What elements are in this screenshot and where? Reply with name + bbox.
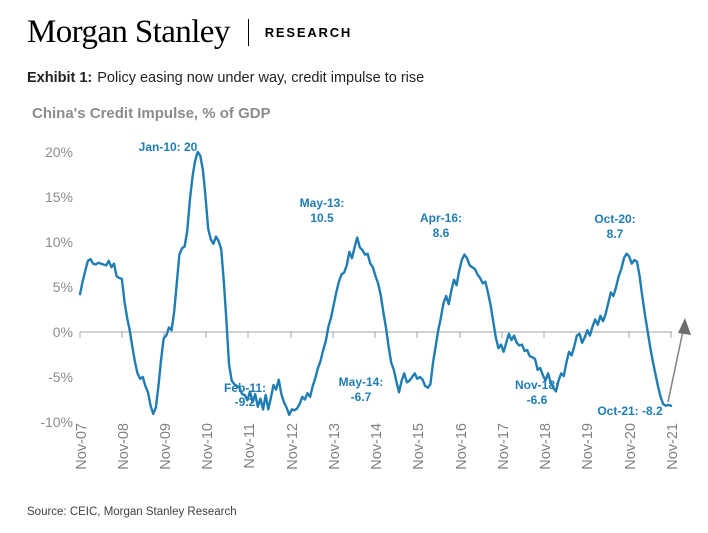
- annotation-nov18-line1: Nov-18:: [515, 378, 559, 392]
- annotation-may13-line2: 10.5: [310, 211, 334, 225]
- brand-header: Morgan Stanley RESEARCH: [27, 12, 352, 52]
- x-tick-nov09: Nov-09: [158, 423, 174, 470]
- y-tick-0: 0%: [53, 324, 73, 340]
- x-tick-nov10: Nov-10: [200, 423, 216, 470]
- source-note: Source: CEIC, Morgan Stanley Research: [27, 506, 237, 518]
- annotation-may13-line1: May-13:: [300, 196, 345, 210]
- x-tick-nov18: Nov-18: [538, 423, 554, 470]
- x-tick-nov19: Nov-19: [580, 423, 596, 470]
- annotation-feb11-line2: -9.2: [235, 395, 256, 409]
- annotation-nov18-line2: -6.6: [527, 393, 548, 407]
- y-axis-labels: 20% 15% 10% 5% 0% -5% -10%: [40, 144, 73, 430]
- y-tick-neg10: -10%: [40, 414, 73, 430]
- annotation-may14-line1: May-14:: [339, 375, 384, 389]
- y-tick-20: 20%: [45, 144, 73, 160]
- x-tick-nov14: Nov-14: [369, 423, 385, 470]
- annotation-oct21: Oct-21: -8.2: [597, 404, 663, 418]
- x-tick-nov21: Nov-21: [665, 423, 681, 470]
- exhibit-title-row: Exhibit 1:Policy easing now under way, c…: [27, 70, 424, 86]
- credit-impulse-line-chart: 20% 15% 10% 5% 0% -5% -10%: [0, 130, 708, 495]
- annotation-apr16-line2: 8.6: [433, 226, 450, 240]
- x-tick-nov16: Nov-16: [454, 423, 470, 470]
- annotation-oct20-line1: Oct-20:: [594, 212, 635, 226]
- y-tick-5: 5%: [53, 279, 73, 295]
- annotation-oct20-line2: 8.7: [607, 227, 624, 241]
- x-tick-nov08: Nov-08: [116, 423, 132, 470]
- chart-annotations: Jan-10: 20 Feb-11: -9.2 May-13: 10.5 May…: [139, 140, 663, 418]
- x-tick-nov17: Nov-17: [496, 423, 512, 470]
- exhibit-label: Exhibit 1:: [27, 70, 92, 86]
- x-axis-labels: Nov-07 Nov-08 Nov-09 Nov-10 Nov-11 Nov-1…: [74, 423, 681, 470]
- x-tick-nov20: Nov-20: [623, 423, 639, 470]
- chart-subtitle: China's Credit Impulse, % of GDP: [32, 105, 271, 122]
- exhibit-title: Policy easing now under way, credit impu…: [97, 70, 424, 86]
- annotation-apr16-line1: Apr-16:: [420, 211, 462, 225]
- y-tick-10: 10%: [45, 234, 73, 250]
- annotation-jan10: Jan-10: 20: [139, 140, 198, 154]
- brand-division-label: RESEARCH: [265, 25, 352, 40]
- zero-axis-line: [80, 332, 672, 338]
- brand-divider: [248, 19, 249, 46]
- x-tick-nov15: Nov-15: [411, 423, 427, 470]
- rising-trend-arrow-icon: [668, 318, 691, 402]
- annotation-feb11-line1: Feb-11:: [224, 381, 266, 395]
- chart-container: 20% 15% 10% 5% 0% -5% -10%: [0, 130, 708, 495]
- x-tick-nov12: Nov-12: [285, 423, 301, 470]
- x-tick-nov07: Nov-07: [74, 423, 90, 470]
- x-tick-nov11: Nov-11: [242, 423, 258, 469]
- annotation-may14-line2: -6.7: [351, 390, 372, 404]
- brand-name: Morgan Stanley: [27, 16, 230, 49]
- y-tick-15: 15%: [45, 189, 73, 205]
- y-tick-neg5: -5%: [48, 369, 73, 385]
- x-tick-nov13: Nov-13: [327, 423, 343, 470]
